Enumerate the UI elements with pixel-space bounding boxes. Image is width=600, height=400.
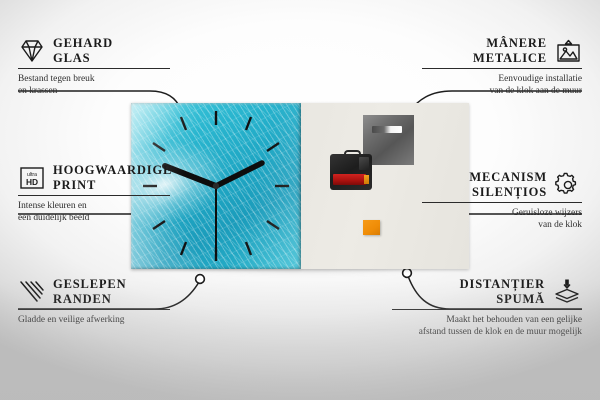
bevelled-edges-icon — [18, 279, 46, 305]
foam-spacer-part — [363, 220, 380, 235]
gear-icon — [554, 172, 582, 198]
callout-header: DISTANȚIER SPUMĂ — [392, 277, 582, 306]
product-image — [131, 103, 469, 271]
callout-description: Geruisloze wijzers van de klok — [422, 207, 582, 232]
callout-title: MÂNERE METALICE — [473, 36, 547, 65]
callout-hoogwaardige-print: ultra HD HOOGWAARDIGE PRINT Intense kleu… — [18, 163, 178, 225]
callout-header: GESLEPEN RANDEN — [18, 277, 178, 306]
callout-mecanism-silentios: MECANISM SILENȚIOS Geruisloze wijzers va… — [422, 170, 582, 232]
ultra-hd-icon: ultra HD — [18, 165, 46, 191]
callout-geslepen-randen: GESLEPEN RANDEN Gladde en veilige afwerk… — [18, 277, 178, 326]
callout-title: GEHARD GLAS — [53, 36, 113, 65]
callout-rule — [18, 195, 170, 196]
callout-description: Intense kleuren en een duidelijk beeld — [18, 200, 178, 225]
hanger-slot — [372, 126, 402, 133]
callout-header: MECANISM SILENȚIOS — [422, 170, 582, 199]
spacer-press-icon — [552, 278, 582, 306]
callout-description: Eenvoudige installatie van de klok aan d… — [422, 73, 582, 98]
callout-header: MÂNERE METALICE — [422, 36, 582, 65]
callout-description: Bestand tegen breuk en krassen — [18, 73, 178, 98]
callout-rule — [18, 309, 170, 310]
leader-dot-geslepen-randen — [196, 275, 205, 284]
callout-gehard-glas: GEHARD GLAS Bestand tegen breuk en krass… — [18, 36, 178, 98]
callout-distantier-spuma: DISTANȚIER SPUMĂ Maakt het behouden van … — [392, 277, 582, 339]
infographic-canvas: GEHARD GLAS Bestand tegen breuk en krass… — [0, 0, 600, 400]
callout-rule — [392, 309, 582, 310]
callout-description: Maakt het behouden van een gelijke afsta… — [392, 314, 582, 339]
battery-part — [333, 174, 366, 185]
callout-title: DISTANȚIER SPUMĂ — [460, 277, 545, 306]
mechanism-gearbox — [359, 157, 369, 170]
callout-rule — [18, 68, 170, 69]
callout-title: MECANISM SILENȚIOS — [469, 170, 547, 199]
svg-text:HD: HD — [26, 177, 38, 187]
callout-title: HOOGWAARDIGE PRINT — [53, 163, 172, 192]
callout-rule — [422, 68, 582, 69]
battery-terminal — [364, 175, 369, 184]
clock-mechanism-part — [330, 150, 372, 190]
callout-header: ultra HD HOOGWAARDIGE PRINT — [18, 163, 178, 192]
picture-frame-icon — [554, 38, 582, 64]
callout-rule — [422, 202, 582, 203]
callout-manere-metalice: MÂNERE METALICE Eenvoudige installatie v… — [422, 36, 582, 98]
callout-description: Gladde en veilige afwerking — [18, 314, 178, 326]
callout-header: GEHARD GLAS — [18, 36, 178, 65]
callout-title: GESLEPEN RANDEN — [53, 277, 127, 306]
diamond-icon — [18, 38, 46, 64]
